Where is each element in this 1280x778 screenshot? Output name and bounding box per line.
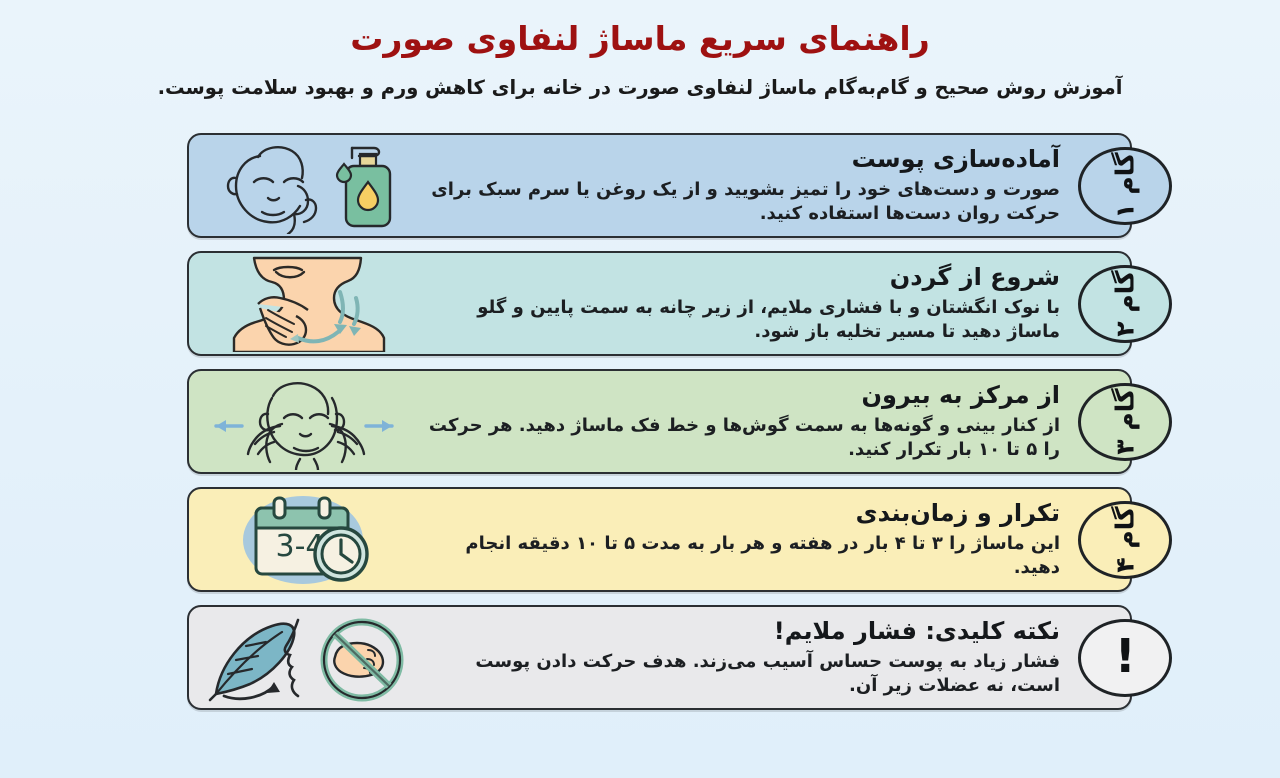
step-badge-label-4: گام ۴	[1111, 506, 1140, 572]
step-badge-label-2: گام ۲	[1111, 270, 1140, 336]
step-badge-1: گام ۱	[1078, 147, 1172, 225]
step-text-1: آماده‌سازی پوست صورت و دست‌های خود را تم…	[414, 139, 1130, 232]
page-subtitle: آموزش روش صحیح و گام‌به‌گام ماساژ لنفاوی…	[0, 75, 1280, 101]
feather-no-fist-icon	[195, 608, 410, 708]
step-desc-5: فشار زیاد به پوست حساس آسیب می‌زند. هدف …	[424, 650, 1060, 699]
step-badge-2: گام ۲	[1078, 265, 1172, 343]
face-cleanse-pump-bottle-icon	[195, 136, 410, 236]
step-card-2[interactable]: گام ۲ شروع از گردن با نوک انگشتان و با ف…	[187, 251, 1132, 356]
step-badge-3: گام ۳	[1078, 383, 1172, 461]
warning-badge: !	[1078, 619, 1172, 697]
infographic-page: راهنمای سریع ماساژ لنفاوی صورت آموزش روش…	[0, 0, 1280, 778]
step-title-1: آماده‌سازی پوست	[424, 145, 1060, 174]
step-card-1[interactable]: گام ۱ آماده‌سازی پوست صورت و دست‌های خود…	[187, 133, 1132, 238]
step-title-2: شروع از گردن	[424, 263, 1060, 292]
header: راهنمای سریع ماساژ لنفاوی صورت آموزش روش…	[0, 0, 1280, 102]
step-text-2: شروع از گردن با نوک انگشتان و با فشاری م…	[414, 257, 1130, 350]
step-card-3[interactable]: گام ۳ از مرکز به بیرون از کنار بینی و گو…	[187, 369, 1132, 474]
step-card-5[interactable]: ! نکته کلیدی: فشار ملایم! فشار زیاد به پ…	[187, 605, 1132, 710]
face-outward-arrows-icon	[195, 372, 410, 472]
step-desc-4: این ماساژ را ۳ تا ۴ بار در هفته و هر بار…	[424, 532, 1060, 581]
calendar-clock-icon: 3-4	[195, 490, 410, 590]
step-title-3: از مرکز به بیرون	[424, 381, 1060, 410]
steps-list: گام ۱ آماده‌سازی پوست صورت و دست‌های خود…	[187, 133, 1132, 710]
exclamation-icon: !	[1115, 633, 1135, 683]
step-text-4: تکرار و زمان‌بندی این ماساژ را ۳ تا ۴ با…	[414, 493, 1130, 586]
step-badge-4: گام ۴	[1078, 501, 1172, 579]
step-text-3: از مرکز به بیرون از کنار بینی و گونه‌ها …	[414, 375, 1130, 468]
step-title-4: تکرار و زمان‌بندی	[424, 499, 1060, 528]
step-desc-3: از کنار بینی و گونه‌ها به سمت گوش‌ها و خ…	[424, 414, 1060, 463]
step-badge-label-3: گام ۳	[1111, 388, 1140, 454]
step-desc-1: صورت و دست‌های خود را تمیز بشویید و از ی…	[424, 178, 1060, 227]
step-text-5: نکته کلیدی: فشار ملایم! فشار زیاد به پوس…	[414, 611, 1130, 704]
step-desc-2: با نوک انگشتان و با فشاری ملایم، از زیر …	[424, 296, 1060, 345]
page-title: راهنمای سریع ماساژ لنفاوی صورت	[0, 18, 1280, 59]
step-badge-label-1: گام ۱	[1111, 152, 1140, 218]
no-fist-prohibition-icon	[324, 622, 400, 698]
feather-icon	[210, 623, 294, 699]
step-title-5: نکته کلیدی: فشار ملایم!	[424, 617, 1060, 646]
step-card-4[interactable]: گام ۴ تکرار و زمان‌بندی این ماساژ را ۳ ت…	[187, 487, 1132, 592]
neck-massage-downward-arrows-icon	[195, 254, 410, 354]
